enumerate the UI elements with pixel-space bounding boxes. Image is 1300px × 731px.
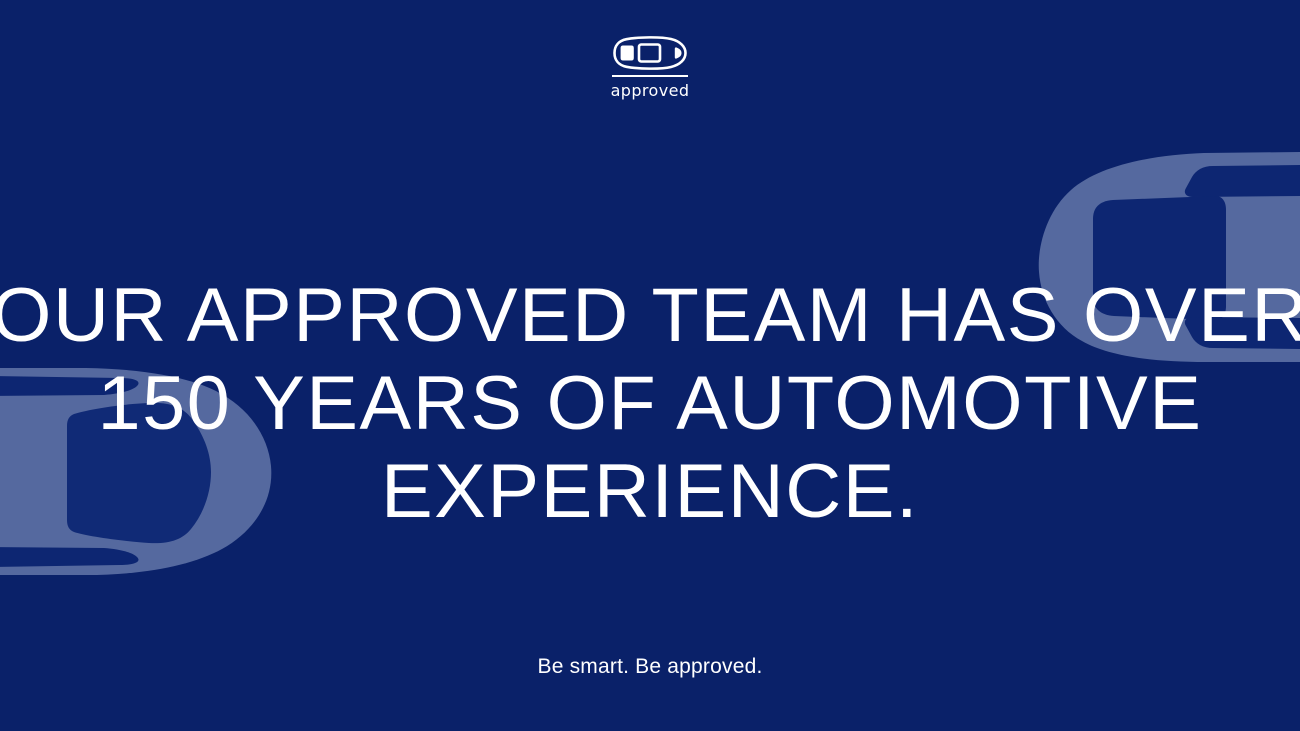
tagline: Be smart. Be approved.	[0, 655, 1300, 679]
tagline-text: Be smart. Be approved.	[537, 655, 762, 678]
logo-divider-rule	[612, 75, 688, 77]
car-top-view-icon	[613, 36, 687, 70]
headline-line-3: EXPERIENCE.	[0, 448, 1300, 536]
page-title: OUR APPROVED TEAM HAS OVER 150 YEARS OF …	[0, 272, 1300, 536]
logo-wordmark: approved	[611, 81, 690, 101]
headline-line-1: OUR APPROVED TEAM HAS OVER	[0, 272, 1300, 360]
brand-logo: approved	[0, 36, 1300, 101]
headline-line-2: 150 YEARS OF AUTOMOTIVE	[0, 360, 1300, 448]
slide-canvas: approved OUR APPROVED TEAM HAS OVER 150 …	[0, 0, 1300, 731]
